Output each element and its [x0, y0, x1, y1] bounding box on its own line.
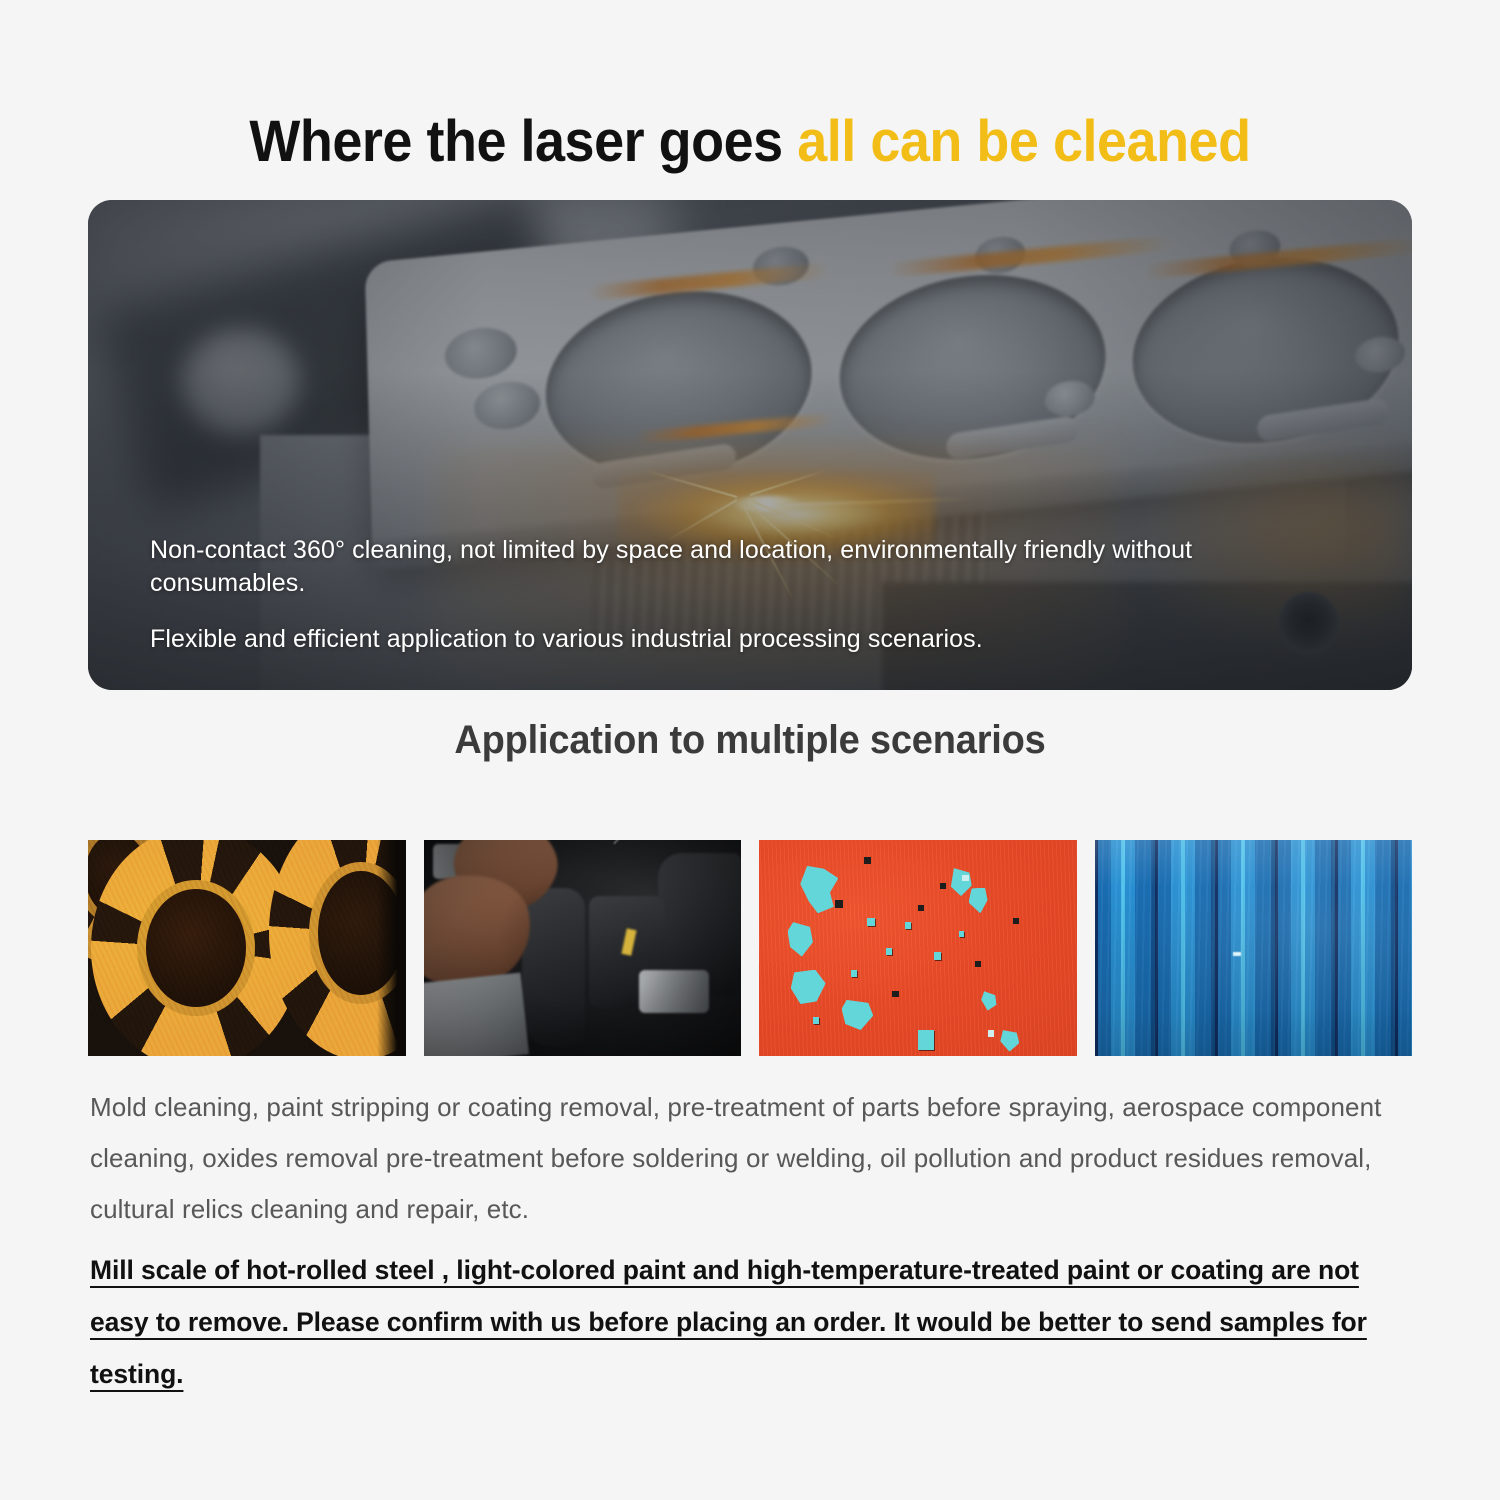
scenario-description: Mold cleaning, paint stripping or coatin… [90, 1082, 1420, 1235]
paint-chip [959, 931, 964, 937]
thumbnail-vignette [424, 840, 742, 1056]
product-detail-page: Where the laser goes all can be cleaned [0, 0, 1500, 1500]
paint-chip-dark [975, 961, 981, 967]
thumbnail-blue-corrugated-panel[interactable] [1095, 840, 1413, 1056]
paint-chip-dark [892, 991, 898, 997]
paint-chip-dark [918, 905, 924, 911]
paint-chip [886, 948, 892, 955]
panel-scratch [1233, 952, 1241, 955]
paint-chip [934, 952, 941, 960]
page-headline: Where the laser goes all can be cleaned [53, 112, 1448, 173]
headline-primary-text: Where the laser goes [249, 109, 782, 174]
thumbnail-edge-shadow [377, 840, 406, 1056]
scenario-thumbnail-strip [88, 840, 1412, 1056]
thumbnail-engine-bay-hands[interactable] [424, 840, 742, 1056]
section-title: Application to multiple scenarios [38, 718, 1463, 763]
paint-chip [867, 918, 875, 927]
paint-chip [851, 970, 857, 977]
headline-accent-text: all can be cleaned [797, 109, 1250, 174]
hero-caption-line-2: Flexible and efficient application to va… [150, 623, 1350, 657]
order-notice-text: Mill scale of hot-rolled steel , light-c… [90, 1255, 1367, 1389]
paint-chip [905, 922, 911, 928]
order-notice: Mill scale of hot-rolled steel , light-c… [90, 1244, 1420, 1400]
paint-chip-dark [940, 883, 946, 889]
thumbnail-peeling-orange-paint[interactable] [759, 840, 1077, 1056]
thumbnail-rusty-metal-flanges[interactable] [88, 840, 406, 1056]
hero-banner: Non-contact 360° cleaning, not limited b… [88, 200, 1412, 690]
hero-caption: Non-contact 360° cleaning, not limited b… [150, 534, 1350, 657]
paint-chip-dark [835, 900, 843, 907]
paint-chip-light [962, 875, 969, 881]
hero-caption-line-1: Non-contact 360° cleaning, not limited b… [150, 534, 1350, 601]
paint-flake [918, 1030, 934, 1049]
rust-texture-overlay [88, 840, 406, 1056]
paint-chip-light [988, 1030, 994, 1036]
panel-sheen [1095, 840, 1413, 1056]
paint-chip-dark [1013, 918, 1019, 924]
paint-chip [813, 1017, 819, 1023]
paint-chip-dark [864, 857, 871, 863]
